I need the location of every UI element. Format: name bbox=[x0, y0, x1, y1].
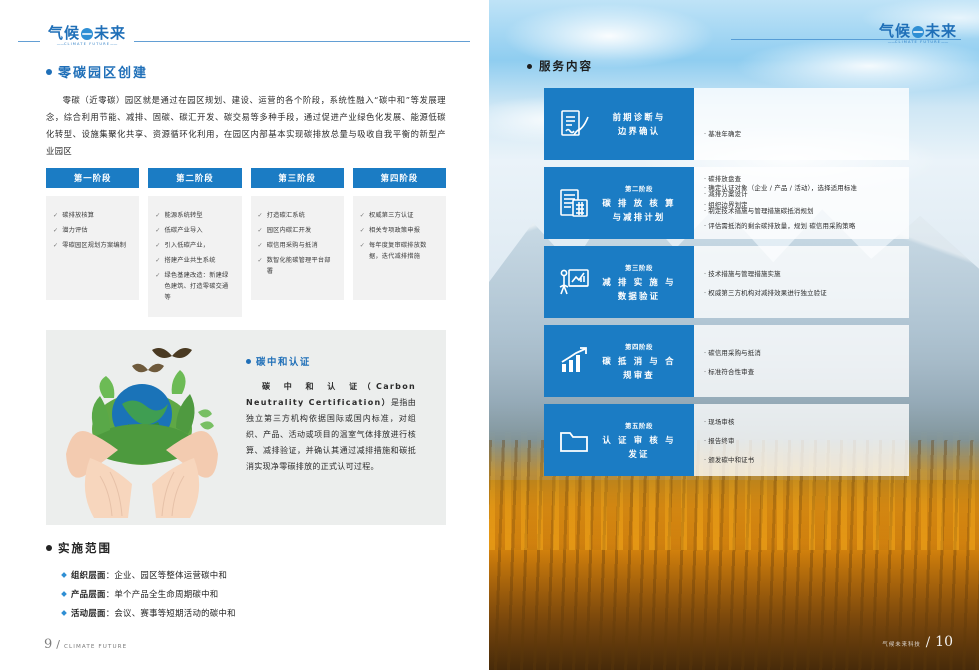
check-icon: ✓ bbox=[155, 210, 160, 221]
stage-4-header: 第四阶段 bbox=[353, 168, 446, 188]
diamond-bullet-icon bbox=[61, 572, 67, 578]
service-row-2-title: 第二阶段 碳 排 放 核 算 与减排计划 bbox=[596, 183, 686, 224]
stage-item-label: 零碳园区规划方案编制 bbox=[62, 240, 126, 251]
right-page: 气候 未来 CLIMATE FUTURE 服务内容 bbox=[489, 0, 979, 670]
bullet-dot-icon bbox=[527, 64, 532, 69]
content-line: 制定技术措施与管理措施碳抵消规划 bbox=[704, 205, 814, 218]
check-icon: ✓ bbox=[258, 255, 263, 277]
left-page-footer: 9 / CLIMATE FUTURE bbox=[44, 637, 127, 652]
check-icon: ✓ bbox=[360, 240, 365, 262]
stage-item: ✓碳信用采购与抵消 bbox=[258, 240, 337, 251]
service-row-4-content: 碳信用采购与抵消 标准符合性审查 bbox=[694, 325, 909, 397]
logo: 气候 未来 CLIMATE FUTURE bbox=[879, 24, 957, 45]
content-line: 权威第三方机构对减排效果进行独立验证 bbox=[704, 287, 827, 300]
stage-item: ✓潜力评估 bbox=[53, 225, 132, 236]
stage-item-label: 数智化能碳管理平台部署 bbox=[267, 255, 337, 277]
title-line: 规审查 bbox=[596, 368, 682, 382]
stage-column-4: 第四阶段 ✓权威第三方认证 ✓相关专项政策申报 ✓每年度复审碳排放数据，迭代减排… bbox=[353, 168, 446, 317]
check-icon: ✓ bbox=[360, 225, 365, 236]
footer-slash: / bbox=[56, 638, 60, 651]
stage-label: 第五阶段 bbox=[596, 420, 682, 433]
stage-item-label: 引入低碳产业， bbox=[164, 240, 209, 251]
stage-2-body: ✓能源系统转型 ✓低碳产业导入 ✓引入低碳产业， ✓搭建产业共生系统 ✓绿色基建… bbox=[148, 196, 241, 317]
logo-chinese: 气候 未来 bbox=[879, 24, 957, 39]
stage-item: ✓打造碳汇系统 bbox=[258, 210, 337, 221]
service-row-3-header: 第三阶段 减 排 实 施 与 数据验证 bbox=[544, 246, 694, 318]
title-line: 发证 bbox=[596, 447, 682, 461]
check-icon: ✓ bbox=[155, 255, 160, 266]
diamond-bullet-icon bbox=[61, 610, 67, 616]
right-page-footer: 气候未来科技 / 10 bbox=[882, 634, 953, 650]
logo-chinese: 气候 未来 bbox=[48, 26, 126, 41]
stage-item: ✓引入低碳产业， bbox=[155, 240, 234, 251]
left-brand-header: 气候 未来 CLIMATE FUTURE bbox=[18, 28, 470, 54]
stage-item-label: 绿色基建改造：新建绿色建筑、打造零碳交通等 bbox=[164, 270, 234, 303]
logo-cn-left: 气候 bbox=[48, 26, 80, 41]
logo: 气候 未来 CLIMATE FUTURE bbox=[40, 26, 134, 47]
certification-title: 碳中和认证 bbox=[246, 354, 416, 368]
stage-item: ✓零碳园区规划方案编制 bbox=[53, 240, 132, 251]
check-icon: ✓ bbox=[53, 240, 58, 251]
content-line: 报告终审 bbox=[704, 435, 735, 448]
stage-item-label: 每年度复审碳排放数据，迭代减排措施 bbox=[369, 240, 439, 262]
stage-3-header: 第三阶段 bbox=[251, 168, 344, 188]
check-icon: ✓ bbox=[258, 225, 263, 236]
logo-english: CLIMATE FUTURE bbox=[57, 41, 118, 47]
globe-icon bbox=[912, 26, 924, 38]
services-title-text: 服务内容 bbox=[539, 58, 593, 74]
service-row-4-title: 第四阶段 碳 抵 消 与 合 规审查 bbox=[596, 341, 686, 382]
service-row-3: 第三阶段 减 排 实 施 与 数据验证 技术措施与管理措施实施 权威第三方机构对… bbox=[544, 246, 909, 318]
service-row-1: 前期诊断与 边界确认 基准年确定 bbox=[544, 88, 909, 160]
service-row-3-title: 第三阶段 减 排 实 施 与 数据验证 bbox=[596, 262, 686, 303]
scope-title: 实施范围 bbox=[46, 540, 112, 556]
stage-item-label: 打造碳汇系统 bbox=[267, 210, 305, 221]
certification-title-text: 碳中和认证 bbox=[256, 354, 311, 368]
page-number: 10 bbox=[935, 634, 953, 650]
list-item: 组织层面 ：企业、园区等整体运营碳中和 bbox=[62, 566, 442, 585]
service-row-4: 第四阶段 碳 抵 消 与 合 规审查 碳信用采购与抵消 标准符合性审查 bbox=[544, 325, 909, 397]
title-line: 边界确认 bbox=[596, 124, 682, 138]
stage-item-label: 碳信用采购与抵消 bbox=[267, 240, 318, 251]
stage-label: 第二阶段 bbox=[596, 183, 682, 196]
stage-item: ✓权威第三方认证 bbox=[360, 210, 439, 221]
check-icon: ✓ bbox=[155, 240, 160, 251]
stage-item: ✓相关专项政策申报 bbox=[360, 225, 439, 236]
logo-cn-right: 未来 bbox=[925, 24, 957, 39]
bullet-dot-icon bbox=[46, 545, 52, 551]
content-line: 技术措施与管理措施实施 bbox=[704, 268, 781, 281]
stage-item: ✓碳排放核算 bbox=[53, 210, 132, 221]
stage-1-header: 第一阶段 bbox=[46, 168, 139, 188]
page-title: 零碳园区创建 bbox=[46, 62, 148, 81]
growth-bar-chart-icon bbox=[552, 344, 596, 378]
stage-item: ✓低碳产业导入 bbox=[155, 225, 234, 236]
title-line: 碳 抵 消 与 合 bbox=[596, 354, 682, 368]
logo-cn-right: 未来 bbox=[94, 26, 126, 41]
page-number: 9 bbox=[44, 637, 52, 652]
service-row-1-title: 前期诊断与 边界确认 bbox=[596, 110, 686, 138]
stage-column-3: 第三阶段 ✓打造碳汇系统 ✓园区内碳汇开发 ✓碳信用采购与抵消 ✓数智化能碳管理… bbox=[251, 168, 344, 317]
certification-text-block: 碳中和认证 碳 中 和 认 证（Carbon Neutrality Certif… bbox=[246, 354, 416, 475]
stage-column-2: 第二阶段 ✓能源系统转型 ✓低碳产业导入 ✓引入低碳产业， ✓搭建产业共生系统 … bbox=[148, 168, 241, 317]
stage-item: ✓园区内碳汇开发 bbox=[258, 225, 337, 236]
stage-item: ✓每年度复审碳排放数据，迭代减排措施 bbox=[360, 240, 439, 262]
stage-item-label: 搭建产业共生系统 bbox=[164, 255, 215, 266]
check-icon: ✓ bbox=[53, 210, 58, 221]
certification-body: 是指由独立第三方机构依据国际或国内标准，对组织、产品、活动或项目的温室气体排放进… bbox=[246, 398, 416, 471]
content-line: 颁发碳中和证书 bbox=[704, 454, 754, 467]
bullet-dot-icon bbox=[246, 359, 251, 364]
stage-label: 第三阶段 bbox=[596, 262, 682, 275]
stage-label: 第四阶段 bbox=[596, 341, 682, 354]
scope-title-text: 实施范围 bbox=[58, 540, 112, 556]
service-row-2: 第二阶段 碳 排 放 核 算 与减排计划 碳排放盘查 确定认证对象（企业 / 产… bbox=[544, 167, 909, 239]
stage-3-body: ✓打造碳汇系统 ✓园区内碳汇开发 ✓碳信用采购与抵消 ✓数智化能碳管理平台部署 bbox=[251, 196, 344, 300]
stage-item-label: 低碳产业导入 bbox=[164, 225, 202, 236]
content-line: 标准符合性审查 bbox=[704, 366, 754, 379]
content-line: 现场审核 bbox=[704, 416, 735, 429]
stage-item: ✓能源系统转型 bbox=[155, 210, 234, 221]
scope-item-label: 产品层面 bbox=[71, 585, 106, 604]
check-icon: ✓ bbox=[258, 240, 263, 251]
logo-english: CLIMATE FUTURE bbox=[888, 39, 949, 45]
service-row-5-title: 第五阶段 认 证 审 核 与 发证 bbox=[596, 420, 686, 461]
content-line: 评估需抵消的剩余碳排放量，规划 碳信用采购策略 bbox=[704, 220, 855, 233]
list-item: 产品层面 ：单个产品全生命周期碳中和 bbox=[62, 585, 442, 604]
check-icon: ✓ bbox=[53, 225, 58, 236]
logo-cn-left: 气候 bbox=[879, 24, 911, 39]
service-row-5: 第五阶段 认 证 审 核 与 发证 现场审核 报告终审 颁发碳中和证书 bbox=[544, 404, 909, 476]
stage-item-label: 园区内碳汇开发 bbox=[267, 225, 312, 236]
calculator-report-icon bbox=[552, 186, 596, 220]
check-icon: ✓ bbox=[360, 210, 365, 221]
stage-item: ✓数智化能碳管理平台部署 bbox=[258, 255, 337, 277]
stage-item-label: 潜力评估 bbox=[62, 225, 88, 236]
scope-item-label: 组织层面 bbox=[71, 566, 106, 585]
certification-band: 碳中和认证 碳 中 和 认 证（Carbon Neutrality Certif… bbox=[46, 330, 446, 525]
check-icon: ✓ bbox=[155, 270, 160, 303]
page-title-text: 零碳园区创建 bbox=[58, 62, 148, 81]
certification-paragraph: 碳 中 和 认 证（Carbon Neutrality Certificatio… bbox=[246, 379, 416, 475]
title-line: 与减排计划 bbox=[596, 210, 682, 224]
stage-item-label: 相关专项政策申报 bbox=[369, 225, 420, 236]
stage-item-label: 碳排放核算 bbox=[62, 210, 94, 221]
stage-columns: 第一阶段 ✓碳排放核算 ✓潜力评估 ✓零碳园区规划方案编制 第二阶段 ✓能源系统… bbox=[46, 168, 446, 317]
intro-paragraph: 零碳（近零碳）园区就是通过在园区规划、建设、运营的各个阶段，系统性融入“碳中和”… bbox=[46, 92, 446, 160]
service-row-5-header: 第五阶段 认 证 审 核 与 发证 bbox=[544, 404, 694, 476]
service-row-3-content: 技术措施与管理措施实施 权威第三方机构对减排效果进行独立验证 bbox=[694, 246, 909, 318]
stage-item: ✓绿色基建改造：新建绿色建筑、打造零碳交通等 bbox=[155, 270, 234, 303]
title-line: 减 排 实 施 与 bbox=[596, 275, 682, 289]
left-page: 气候 未来 CLIMATE FUTURE 零碳园区创建 零碳（近零碳）园区就是通… bbox=[0, 0, 489, 670]
scope-item-text: ：企业、园区等整体运营碳中和 bbox=[106, 566, 227, 585]
bullet-dot-icon bbox=[46, 69, 52, 75]
presentation-chart-person-icon bbox=[552, 265, 596, 299]
service-row-1-header: 前期诊断与 边界确认 bbox=[544, 88, 694, 160]
brochure-spread: 气候 未来 CLIMATE FUTURE 零碳园区创建 零碳（近零碳）园区就是通… bbox=[0, 0, 979, 670]
stage-1-body: ✓碳排放核算 ✓潜力评估 ✓零碳园区规划方案编制 bbox=[46, 196, 139, 300]
stage-item: ✓搭建产业共生系统 bbox=[155, 255, 234, 266]
hands-holding-earth-image bbox=[50, 336, 235, 519]
title-line: 碳 排 放 核 算 bbox=[596, 196, 682, 210]
service-row-1-content: 基准年确定 bbox=[694, 88, 909, 160]
scope-item-text: ：会议、赛事等短期活动的碳中和 bbox=[106, 604, 236, 623]
title-line: 认 证 审 核 与 bbox=[596, 433, 682, 447]
title-line: 数据验证 bbox=[596, 289, 682, 303]
service-row-2-header: 第二阶段 碳 排 放 核 算 与减排计划 bbox=[544, 167, 694, 239]
content-line: 碳信用采购与抵消 bbox=[704, 347, 761, 360]
scope-list: 组织层面 ：企业、园区等整体运营碳中和 产品层面 ：单个产品全生命周期碳中和 活… bbox=[62, 566, 442, 623]
stage-column-1: 第一阶段 ✓碳排放核算 ✓潜力评估 ✓零碳园区规划方案编制 bbox=[46, 168, 139, 317]
title-line: 前期诊断与 bbox=[596, 110, 682, 124]
folder-icon bbox=[552, 423, 596, 457]
services-title: 服务内容 bbox=[527, 58, 593, 74]
stage-item-label: 权威第三方认证 bbox=[369, 210, 414, 221]
stage-item-label: 能源系统转型 bbox=[164, 210, 202, 221]
document-pen-icon bbox=[552, 107, 596, 141]
footer-label: CLIMATE FUTURE bbox=[64, 644, 127, 650]
list-item: 活动层面 ：会议、赛事等短期活动的碳中和 bbox=[62, 604, 442, 623]
diamond-bullet-icon bbox=[61, 591, 67, 597]
globe-icon bbox=[81, 28, 93, 40]
right-brand-header: 气候 未来 CLIMATE FUTURE bbox=[731, 26, 961, 52]
stage-2-header: 第二阶段 bbox=[148, 168, 241, 188]
check-icon: ✓ bbox=[155, 225, 160, 236]
scope-item-label: 活动层面 bbox=[71, 604, 106, 623]
content-line: 基准年确定 bbox=[704, 128, 741, 141]
check-icon: ✓ bbox=[258, 210, 263, 221]
footer-label: 气候未来科技 bbox=[882, 640, 920, 648]
service-row-2-content: 碳排放盘查 确定认证对象（企业 / 产品 / 活动），选择适用标准 减排方案设计… bbox=[694, 167, 909, 239]
service-row-5-content: 现场审核 报告终审 颁发碳中和证书 bbox=[694, 404, 909, 476]
footer-slash: / bbox=[926, 635, 930, 650]
stage-4-body: ✓权威第三方认证 ✓相关专项政策申报 ✓每年度复审碳排放数据，迭代减排措施 bbox=[353, 196, 446, 300]
service-row-4-header: 第四阶段 碳 抵 消 与 合 规审查 bbox=[544, 325, 694, 397]
service-rows: 前期诊断与 边界确认 基准年确定 bbox=[544, 88, 909, 483]
scope-item-text: ：单个产品全生命周期碳中和 bbox=[106, 585, 219, 604]
